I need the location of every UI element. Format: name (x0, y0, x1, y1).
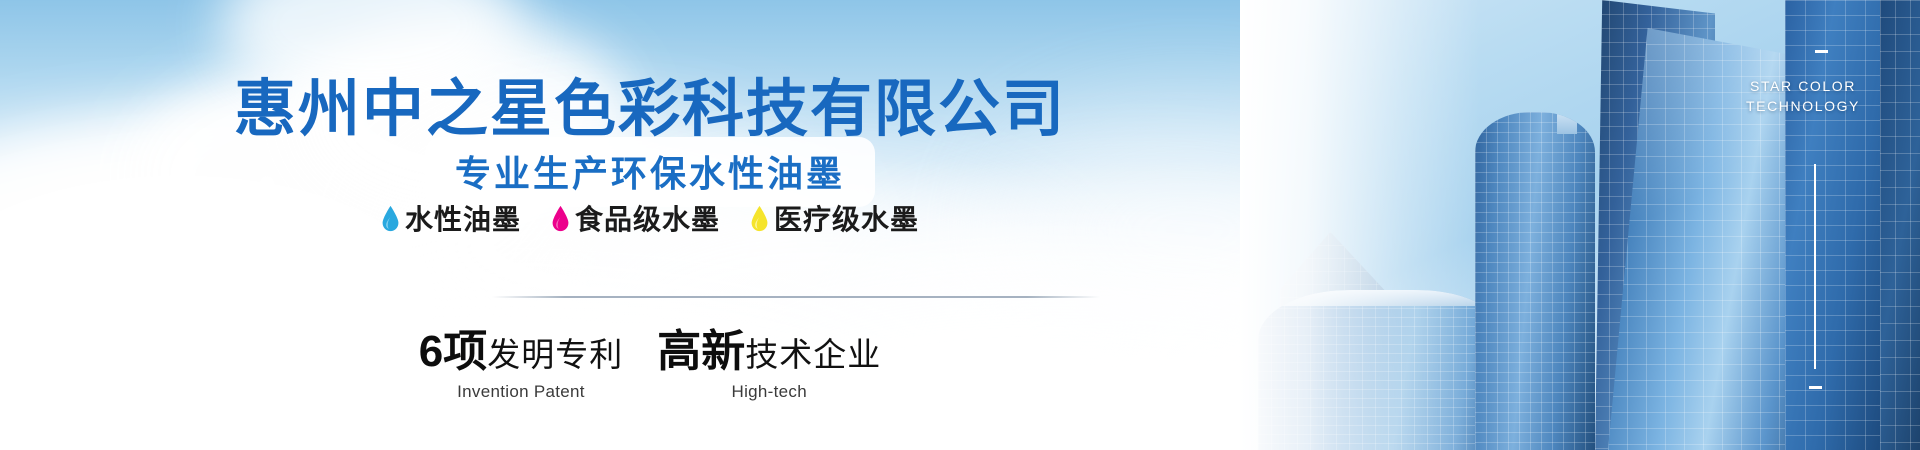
company-title: 惠州中之星色彩科技有限公司 (0, 58, 1300, 148)
photo-brand-label-line2: TECHNOLOGY (1708, 96, 1898, 116)
building-mid-tower (1475, 112, 1595, 450)
feature-item-food-grade-ink: 食品级水墨 (551, 198, 720, 238)
photo-tick-top (1815, 50, 1828, 53)
skyscraper-photo: STAR COLOR TECHNOLOGY (1240, 0, 1920, 450)
banner-content: 惠州中之星色彩科技有限公司 专业生产环保水性油墨 水性油墨 食品级水墨 (0, 0, 1300, 450)
photo-vertical-rule (1814, 164, 1816, 369)
feature-label: 水性油墨 (405, 198, 521, 238)
building-far-right-sliver (1880, 0, 1920, 450)
badge-rest-text: 技术企业 (745, 328, 881, 376)
badge-english-text: High-tech (657, 382, 881, 402)
badge-rest-text: 发明专利 (487, 328, 623, 376)
feature-item-medical-grade-ink: 医疗级水墨 (750, 198, 919, 238)
glass-grid (1880, 0, 1920, 450)
photo-tick-bottom (1809, 386, 1822, 389)
water-drop-icon (381, 205, 400, 232)
water-drop-icon (750, 205, 769, 232)
glass-grid (1475, 112, 1595, 450)
section-divider (492, 296, 1100, 298)
feature-label: 医疗级水墨 (774, 198, 919, 238)
building-notch (1557, 112, 1577, 134)
photo-brand-label: STAR COLOR TECHNOLOGY (1708, 76, 1898, 116)
product-feature-list: 水性油墨 食品级水墨 医疗级水墨 (0, 198, 1300, 238)
feature-item-water-ink: 水性油墨 (381, 198, 521, 238)
photo-brand-label-line1: STAR COLOR (1708, 76, 1898, 96)
subtitle-row: 专业生产环保水性油墨 (0, 137, 1300, 207)
badge-strong-text: 高新 (657, 315, 745, 379)
badge-invention-patent: 6项 发明专利 Invention Patent (419, 315, 623, 402)
credential-badges: 6项 发明专利 Invention Patent 高新 技术企业 High-te… (0, 315, 1300, 402)
company-hero-banner: Star Color STAR COLOR TECHNOLOGY 惠州中之星色彩… (0, 0, 1920, 450)
badge-high-tech: 高新 技术企业 High-tech (657, 315, 881, 402)
feature-label: 食品级水墨 (575, 198, 720, 238)
badge-english-text: Invention Patent (419, 382, 623, 402)
badge-headline: 6项 发明专利 (419, 315, 623, 379)
water-drop-icon (551, 205, 570, 232)
subtitle-pill: 专业生产环保水性油墨 (425, 137, 875, 207)
badge-headline: 高新 技术企业 (657, 315, 881, 379)
badge-strong-text: 6项 (419, 315, 487, 379)
